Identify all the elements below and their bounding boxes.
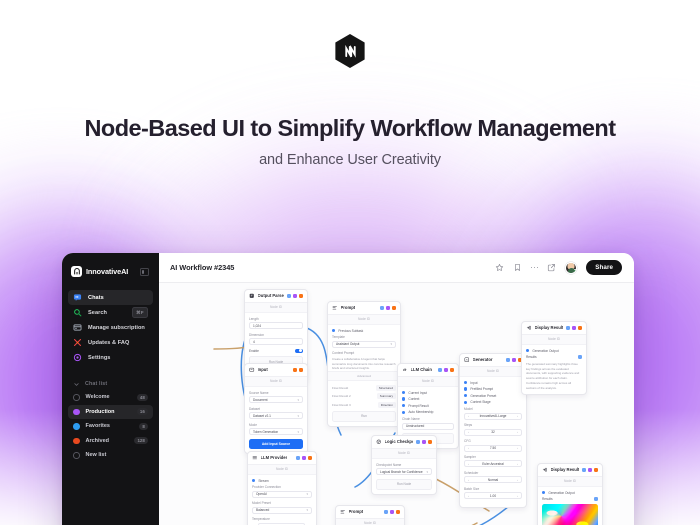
param-label: CFG (464, 439, 522, 443)
chevron-down-icon: ▾ (297, 414, 299, 418)
node-display-results-text[interactable]: Display Results Node ID Generation Outpu… (521, 321, 587, 395)
page-title: Node-Based UI to Simplify Workflow Manag… (0, 115, 700, 143)
field-value[interactable]: Balanced▾ (252, 507, 312, 514)
chat-item-label: Favorites (86, 423, 110, 429)
field-label: Provider Connection (252, 485, 312, 489)
sidebar-item-chats[interactable]: Chats (68, 290, 153, 305)
status-dot (73, 394, 80, 401)
chat-item-label: Welcome (86, 394, 110, 400)
sidebar-item-updates-faq[interactable]: Updates & FAQ (68, 335, 153, 350)
brand-row[interactable]: InnovativeAI (68, 263, 153, 277)
field-value[interactable]: 1,024 (249, 322, 303, 329)
field-value[interactable]: Assistant Output▾ (332, 341, 396, 348)
run-button[interactable]: Run (332, 411, 396, 422)
page-subtitle: and Enhance User Creativity (0, 152, 700, 168)
sidebar: InnovativeAI Chats Search ⌘F (62, 253, 159, 525)
kv-row: Flow Result 3Direction (332, 402, 396, 408)
node-title: Input (258, 367, 268, 372)
input-port-row[interactable]: Context Stage (464, 400, 522, 404)
chat-item-label: Archived (86, 438, 110, 444)
param-label: Steps (464, 423, 522, 427)
field[interactable]: Chain Name Unstructured (402, 417, 454, 430)
chevron-down-icon: ▾ (390, 342, 392, 346)
node-subtitle: Node ID (245, 377, 307, 387)
param-label: Model (464, 407, 522, 411)
chevron-down-icon: ▾ (297, 430, 299, 434)
field[interactable]: Mode Token Generation▾ (249, 423, 303, 436)
node-header: Generator (460, 354, 526, 367)
field-label: Dimension (249, 333, 303, 337)
input-port[interactable] (402, 391, 405, 394)
input-port-row[interactable]: Stream (252, 479, 312, 483)
status-dot (73, 409, 80, 416)
status-dot (73, 438, 80, 445)
node-subtitle: Node ID (328, 315, 400, 325)
field-label: Model Preset (252, 501, 312, 505)
node-llm-provider[interactable]: LLM Provider Node ID Stream Provider Con… (247, 451, 317, 525)
node-title: Display Results (551, 467, 580, 472)
prompt-icon (340, 509, 346, 515)
add-list-icon (73, 452, 80, 459)
node-header: Prompt (336, 506, 404, 519)
field[interactable]: Dataset Dataset v2.1▾ (249, 407, 303, 420)
chat-item-label: Production (86, 409, 115, 415)
field-label: Template (332, 335, 396, 339)
sidebar-item-manage-subscription[interactable]: Manage subscription (68, 320, 153, 335)
param[interactable]: Sampler ‹Euler Ancestral› (464, 455, 522, 468)
param-value[interactable]: ‹InnovativeAI-Large› (464, 413, 522, 420)
status-dot (73, 423, 80, 430)
field-label: Length (249, 317, 303, 321)
chat-list-label: Chat list (85, 381, 107, 387)
node-header: Display Results (522, 322, 586, 335)
presence-indicator (573, 269, 577, 273)
node-header: LLM Provider (248, 452, 316, 465)
innovativeai-logo-icon (333, 34, 367, 68)
port-label: Current Input (408, 391, 427, 395)
copy-icon[interactable] (594, 497, 598, 501)
node-header: Display Results (538, 464, 602, 477)
input-port[interactable] (464, 381, 467, 384)
port-label: Context (408, 397, 419, 401)
node-header: LLM Chain (398, 364, 458, 377)
port-label: Input (470, 381, 477, 385)
topbar-actions: Share (495, 260, 622, 275)
field-value[interactable]: Logical Branch for Confidence▾ (376, 468, 432, 475)
input-port[interactable] (464, 387, 467, 390)
param[interactable]: Batch Size ‹1.00› (464, 487, 522, 500)
field-value[interactable]: OpenAI▾ (252, 491, 312, 498)
field[interactable]: Model Preset Balanced▾ (252, 501, 312, 514)
chat-list-item-welcome[interactable]: Welcome 48 (68, 390, 153, 405)
prompt-icon (332, 305, 338, 311)
search-icon (73, 308, 82, 317)
external-link-icon[interactable] (547, 263, 556, 272)
field-label: Dataset (249, 407, 303, 411)
field[interactable]: Dimension 4 (249, 333, 303, 346)
node-title: Logic Checkpoint (385, 439, 414, 444)
param[interactable]: Steps ‹32› (464, 423, 522, 436)
field-value[interactable]: 4 (249, 338, 303, 345)
sidebar-item-search[interactable]: Search ⌘F (68, 305, 153, 320)
field[interactable]: Provider Connection OpenAI▾ (252, 485, 312, 498)
generator-icon (464, 357, 470, 363)
node-subtitle: Node ID (245, 303, 307, 313)
sidebar-item-settings[interactable]: Settings (68, 350, 153, 365)
node-title: Prompt (341, 305, 356, 310)
chat-item-count: 8 (139, 423, 148, 430)
node-prompt-top[interactable]: Prompt Node ID Previous Subtask Template… (327, 301, 401, 427)
input-port-row[interactable]: Previous Subtask (332, 329, 396, 333)
node-input[interactable]: Input Node ID Source Name Document▾ Data… (244, 363, 308, 454)
section-bar: Advanced (328, 371, 400, 381)
more-horizontal-icon[interactable] (531, 267, 539, 269)
node-subtitle: Node ID (248, 465, 316, 475)
sidebar-item-label: Manage subscription (88, 325, 145, 331)
chat-list-item-favorites[interactable]: Favorites 8 (68, 419, 153, 434)
chat-item-label: New list (86, 452, 107, 458)
port-label: Prompt Result (408, 404, 428, 408)
parser-icon (249, 293, 255, 299)
node-generator[interactable]: Generator Node ID Input Prefilled Prompt… (459, 353, 527, 508)
param-value[interactable]: ‹32› (464, 429, 522, 436)
node-body: Source Name Document▾ Dataset Dataset v2… (245, 387, 307, 452)
node-body: Stream Provider Connection OpenAI▾ Model… (248, 475, 316, 525)
chat-list-item-archived[interactable]: Archived 128 (68, 434, 153, 449)
input-port[interactable] (402, 411, 405, 414)
input-port-row[interactable]: Input (464, 381, 522, 385)
node-subtitle: Node ID (538, 477, 602, 487)
node-actions[interactable] (293, 368, 303, 372)
param-value[interactable]: ‹Normal› (464, 476, 522, 483)
field-label: Context Prompt (332, 351, 396, 355)
param-value[interactable]: ‹1.00› (464, 492, 522, 499)
field-value[interactable]: Unstructured (402, 423, 454, 430)
node-header: Logic Checkpoint (372, 436, 436, 449)
chain-icon (402, 367, 408, 373)
node-subtitle: Node ID (336, 519, 404, 525)
brand-name: InnovativeAI (86, 267, 128, 276)
input-port-row[interactable]: Generation Output (542, 491, 598, 495)
toggle-row[interactable]: Enable (249, 349, 303, 353)
field[interactable]: Checkpoint Name Logical Branch for Confi… (376, 463, 432, 476)
display-icon (542, 467, 548, 473)
port-label: Auto Membership (408, 410, 433, 414)
node-display-results-image[interactable]: Display Results Node ID Generation Outpu… (537, 463, 603, 525)
kv-row: Flow ResultStructured (332, 385, 396, 391)
chevron-down-icon: ▾ (306, 492, 308, 496)
chat-list-item-production[interactable]: Production 16 (68, 405, 153, 420)
node-subtitle: Node ID (398, 377, 458, 387)
node-actions[interactable] (582, 468, 598, 472)
sidebar-item-label: Chats (88, 295, 104, 301)
star-icon[interactable] (495, 263, 504, 272)
hero-section: Node-Based UI to Simplify Workflow Manag… (0, 34, 700, 168)
checkpoint-icon (376, 439, 382, 445)
share-button[interactable]: Share (586, 260, 622, 275)
search-shortcut-badge: ⌘F (132, 307, 148, 317)
node-body: Previous Subtask Template Assistant Outp… (328, 325, 400, 426)
node-header: Output Parser (245, 290, 307, 303)
generated-image-preview[interactable] (542, 504, 598, 525)
sidebar-item-label: Search (88, 310, 107, 316)
node-title: LLM Chain (411, 367, 432, 372)
user-avatar[interactable] (565, 262, 577, 274)
add-input-source-button[interactable]: Add Input Source (249, 439, 303, 449)
input-port[interactable] (464, 394, 467, 397)
collapse-panel-icon[interactable] (140, 268, 149, 276)
copy-icon[interactable] (578, 355, 582, 359)
input-port-row[interactable]: Generation Output (526, 349, 582, 353)
node-actions[interactable] (384, 510, 400, 514)
input-port[interactable] (252, 479, 255, 482)
prompt-text: Create a collaborative AI agent that hel… (332, 357, 396, 371)
node-actions[interactable] (296, 456, 312, 460)
chat-item-count: 16 (137, 408, 148, 415)
node-actions[interactable] (438, 368, 454, 372)
param[interactable]: Model ‹InnovativeAI-Large› (464, 407, 522, 420)
port-label: Generation Output (548, 491, 574, 495)
kv-row: Flow Result 2Summary (332, 393, 396, 399)
run-node-button[interactable]: Run Node (376, 479, 432, 490)
results-text: The generated summary highlights three k… (526, 362, 582, 391)
node-subtitle: Node ID (372, 449, 436, 459)
port-label: Stream (258, 479, 268, 483)
input-port-row[interactable]: Prompt Result (402, 404, 454, 408)
chat-bubble-icon (73, 293, 82, 302)
chat-item-count: 48 (137, 394, 148, 401)
node-title: Generator (473, 357, 493, 362)
field[interactable]: Length 1,024 (249, 317, 303, 330)
param-label: Sampler (464, 455, 522, 459)
results-row: Results (526, 355, 582, 359)
field[interactable]: Source Name Document▾ (249, 391, 303, 404)
chat-list: Welcome 48 Production 16 Favorites 8 Arc… (68, 390, 153, 463)
port-label: Previous Subtask (338, 329, 363, 333)
param-value[interactable]: ‹Euler Ancestral› (464, 460, 522, 467)
field-value[interactable]: Document▾ (249, 396, 303, 403)
node-title: Output Parser (258, 293, 285, 298)
document-title: AI Workflow #2345 (170, 263, 234, 272)
sidebar-item-label: Settings (88, 355, 110, 361)
input-port[interactable] (402, 404, 405, 407)
input-port[interactable] (332, 329, 335, 332)
node-prompt-bottom[interactable]: Prompt Node ID Previous Subtask Template… (335, 505, 405, 525)
param-label: Scheduler (464, 471, 522, 475)
credit-card-icon (73, 323, 82, 332)
node-header: Input (245, 364, 307, 377)
node-actions[interactable] (287, 294, 303, 298)
field-label: Checkpoint Name (376, 463, 432, 467)
node-body: Input Prefilled Prompt Generation Preset… (460, 377, 526, 507)
node-body: Generation Output Results (538, 487, 602, 525)
chevron-down-icon: ▾ (426, 470, 428, 474)
topbar: AI Workflow #2345 Share (159, 253, 634, 283)
field[interactable]: Template Assistant Output▾ (332, 335, 396, 348)
enable-toggle[interactable] (295, 349, 303, 353)
param-value[interactable]: ‹7.50› (464, 445, 522, 452)
input-port[interactable] (542, 491, 545, 494)
port-label: Generation Preset (470, 394, 496, 398)
toggle-label: Enable (249, 349, 259, 353)
field-label: Chain Name (402, 417, 454, 421)
field-value[interactable]: Token Generation▾ (249, 428, 303, 435)
chat-item-count: 128 (134, 437, 148, 444)
chat-list-section-header[interactable]: Chat list (68, 378, 153, 390)
node-title: LLM Provider (261, 455, 288, 460)
field-label: Mode (249, 423, 303, 427)
sidebar-nav: Chats Search ⌘F Manage subscription (68, 290, 153, 365)
chevron-down-icon (73, 381, 80, 388)
input-icon (249, 367, 255, 373)
chat-list-item-new-list[interactable]: New list (68, 448, 153, 463)
param-label: Batch Size (464, 487, 522, 491)
input-port-row[interactable]: Prefilled Prompt (464, 387, 522, 391)
field-label: Temperature (252, 517, 312, 521)
input-port-row[interactable]: Auto Membership (402, 410, 454, 414)
node-subtitle: Node ID (522, 335, 586, 345)
node-body: Checkpoint Name Logical Branch for Confi… (372, 459, 436, 494)
input-port[interactable] (464, 401, 467, 404)
bookmark-icon[interactable] (513, 263, 522, 272)
node-actions[interactable] (506, 358, 522, 362)
port-label: Prefilled Prompt (470, 387, 493, 391)
node-actions[interactable] (566, 326, 582, 330)
chevron-down-icon: ▾ (306, 508, 308, 512)
field-value[interactable]: Dataset v2.1▾ (249, 412, 303, 419)
field-label: Source Name (249, 391, 303, 395)
results-label: Results (526, 355, 537, 359)
node-header: Prompt (328, 302, 400, 315)
node-logic-checkpoint[interactable]: Logic Checkpoint Node ID Checkpoint Name… (371, 435, 437, 495)
gear-icon (73, 353, 82, 362)
workflow-canvas[interactable]: Output Parser Node ID Length 1,024 Dimen… (159, 283, 634, 525)
input-port-row[interactable]: Current Input (402, 391, 454, 395)
chevron-down-icon: ▾ (297, 398, 299, 402)
port-label: Context Stage (470, 400, 490, 404)
node-actions[interactable] (416, 440, 432, 444)
node-title: Prompt (349, 509, 364, 514)
input-port[interactable] (402, 397, 405, 400)
provider-icon (252, 455, 258, 461)
results-row: Results (542, 497, 598, 501)
node-actions[interactable] (380, 306, 396, 310)
param[interactable]: Scheduler ‹Normal› (464, 471, 522, 484)
node-body: Generation Output Results The generated … (522, 345, 586, 394)
results-label: Results (542, 497, 553, 501)
node-subtitle: Node ID (460, 367, 526, 377)
input-port[interactable] (526, 349, 529, 352)
port-label: Generation Output (532, 349, 558, 353)
display-icon (526, 325, 532, 331)
main-pane: AI Workflow #2345 Share (159, 253, 634, 525)
input-port-row[interactable]: Context (402, 397, 454, 401)
app-window: InnovativeAI Chats Search ⌘F (62, 253, 634, 525)
input-port-row[interactable]: Generation Preset (464, 394, 522, 398)
node-title: Display Results (535, 325, 564, 330)
param[interactable]: CFG ‹7.50› (464, 439, 522, 452)
sparkle-icon (73, 338, 82, 347)
sidebar-item-label: Updates & FAQ (88, 340, 129, 346)
app-mark-icon (71, 266, 82, 277)
